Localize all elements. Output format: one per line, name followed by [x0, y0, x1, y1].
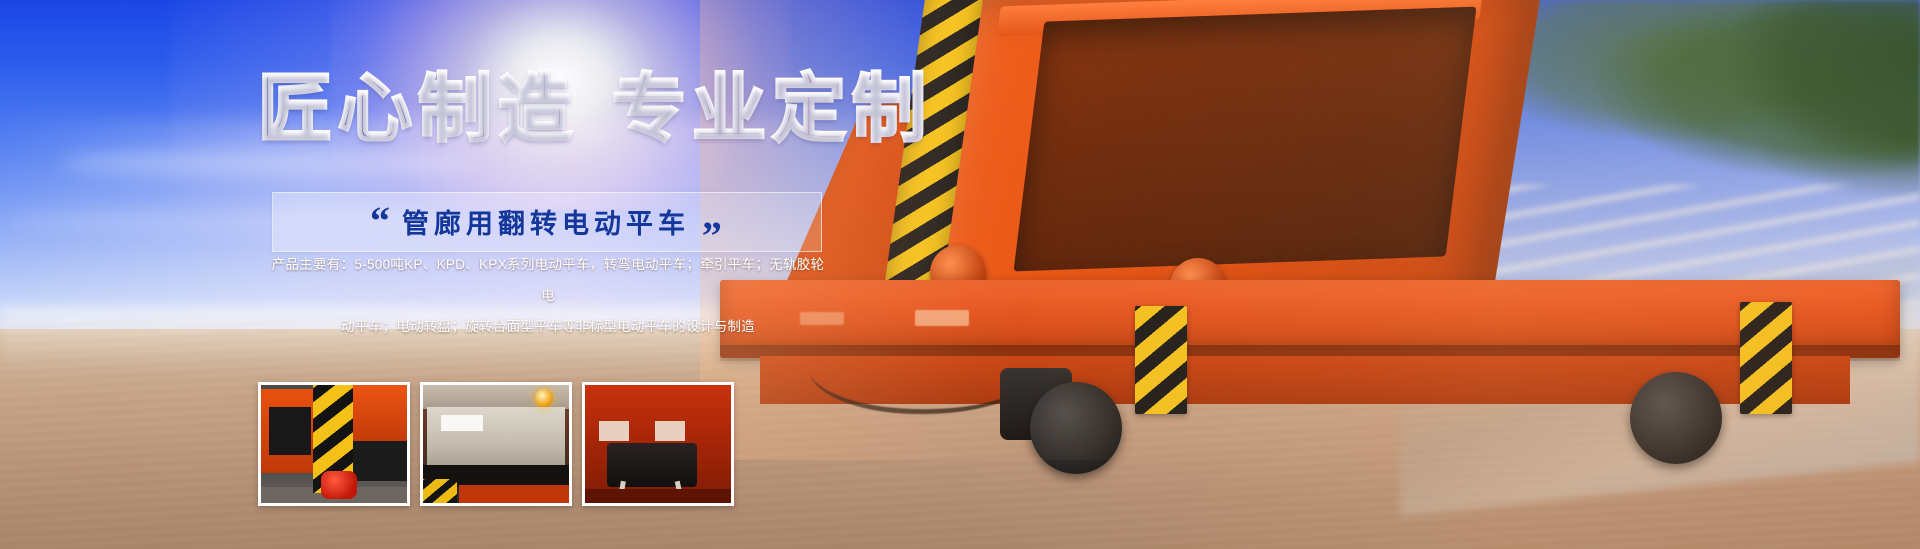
thumb3-panel-left	[599, 421, 629, 441]
thumb3-floor	[585, 489, 731, 503]
thumb2-hazard-stripe	[423, 479, 457, 503]
thumb1-undercarriage	[353, 441, 407, 481]
page-title: 匠心制造专业定制	[258, 72, 932, 146]
cart-bucket-interior	[1014, 7, 1477, 272]
cart-wheel	[1630, 372, 1722, 464]
quote-open-icon: “	[370, 201, 390, 241]
headline-part-2: 专业定制	[612, 67, 932, 150]
thumb3-panel-right	[655, 421, 685, 441]
cart-wheel	[1030, 382, 1122, 474]
thumb1-red-bumper	[321, 471, 357, 499]
thumb1-shadow-recess	[269, 407, 311, 455]
subtitle-row: “ 管廊用翻转电动平车 “	[272, 196, 820, 246]
description-line-1: 产品主要有：5-500吨KP、KPD、KPX系列电动平车，转弯电动平车；牵引平车…	[268, 250, 828, 312]
thumb1-cart-side	[353, 385, 407, 441]
thumb2-warning-lamp-icon	[535, 389, 553, 407]
description-line-2: 动平车；电动转盘；旋转台面型平车等非标型电动平车的设计与制造	[268, 312, 828, 343]
subtitle-text: 管廊用翻转电动平车	[402, 202, 690, 241]
hazard-stripe-block	[1135, 306, 1187, 414]
quote-close-icon: “	[702, 201, 722, 241]
thumbnail-hazard-corner-bumper-photo[interactable]	[258, 382, 410, 506]
thumbnail-control-cabinet-photo[interactable]	[420, 382, 572, 506]
thumb2-red-frame	[459, 485, 569, 503]
hazard-stripe-block	[1740, 302, 1792, 414]
headline-part-1: 匠心制造	[258, 67, 578, 150]
thumb2-cabinet-label	[441, 415, 483, 431]
thumbnail-gallery	[258, 382, 734, 506]
product-hero-banner: 匠心制造专业定制 “ 管廊用翻转电动平车 “ 产品主要有：5-500吨KP、KP…	[0, 0, 1920, 549]
thumbnail-red-machinery-photo[interactable]	[582, 382, 734, 506]
product-description: 产品主要有：5-500吨KP、KPD、KPX系列电动平车，转弯电动平车；牵引平车…	[268, 250, 828, 342]
